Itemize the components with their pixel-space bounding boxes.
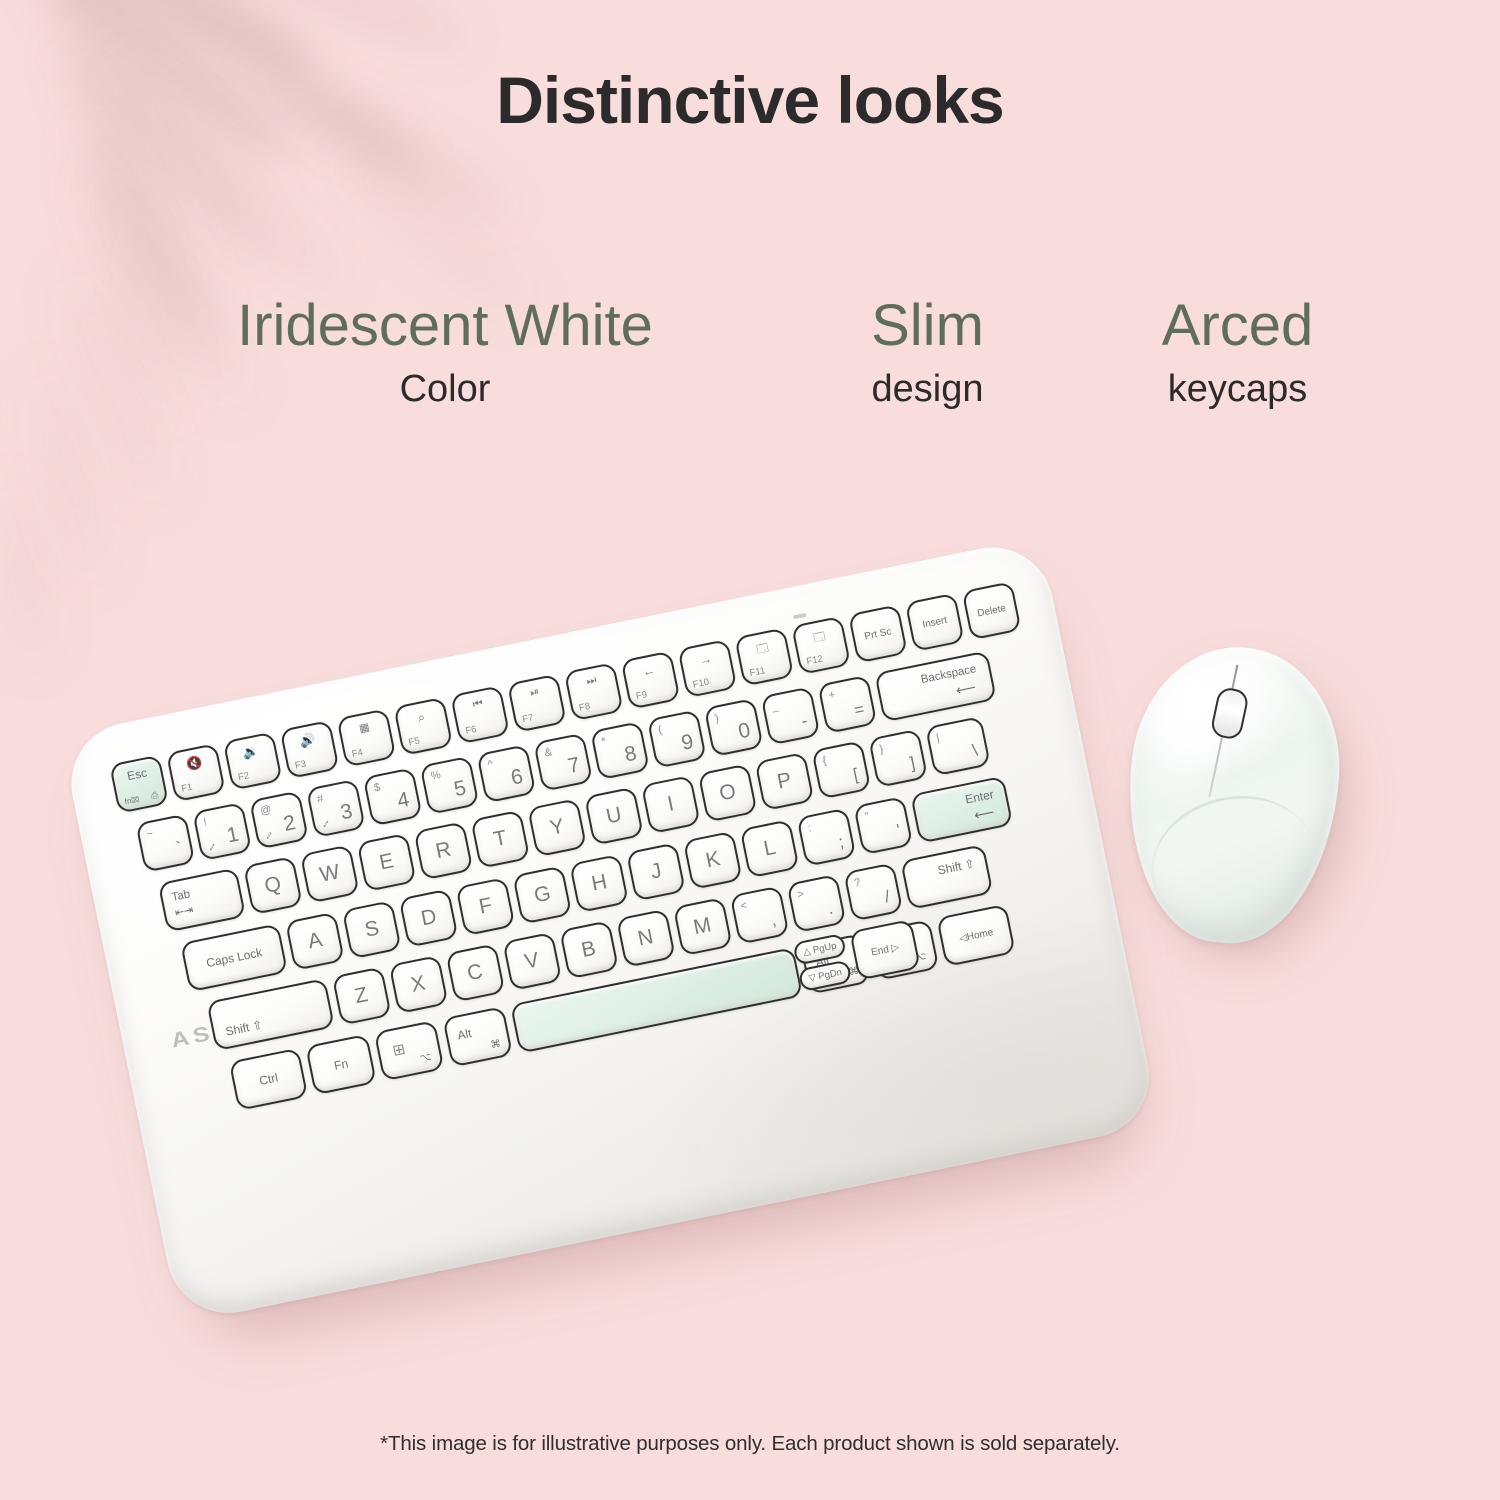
product-keyboard[interactable]: ASUS Escfn⌧⎙🔇F1🔉F2🔊F3▦F4⌕F5⏮F6⏯F7⏭F8←F9→…: [60, 535, 1193, 1442]
key-f3[interactable]: 🔊F3: [280, 720, 340, 779]
key-f[interactable]: F: [456, 877, 516, 936]
key-backspace[interactable]: Backspace⟵: [874, 651, 996, 723]
key-home[interactable]: ◁Home: [936, 904, 1016, 967]
feature-subtitle: design: [855, 370, 1000, 410]
key-5[interactable]: %5: [420, 756, 480, 815]
key-p[interactable]: P: [755, 752, 815, 811]
keyboard-keys[interactable]: Escfn⌧⎙🔇F1🔉F2🔊F3▦F4⌕F5⏮F6⏯F7⏭F8←F9→F10🗔F…: [60, 537, 1160, 1324]
key-enter[interactable]: Enter⟵: [910, 776, 1013, 844]
footnote: *This image is for illustrative purposes…: [0, 1432, 1500, 1456]
key-delete[interactable]: Delete: [962, 581, 1022, 640]
product-mouse[interactable]: [1114, 638, 1373, 977]
key-prt-sc[interactable]: Prt Sc: [848, 604, 908, 663]
key-backslash[interactable]: |\: [925, 716, 991, 776]
key-o[interactable]: O: [698, 763, 758, 822]
feature-title: Iridescent White: [170, 296, 720, 356]
key-shift-left[interactable]: Shift ⇧: [206, 978, 334, 1051]
key-period[interactable]: >.: [786, 874, 846, 933]
key-4[interactable]: $4: [363, 767, 423, 826]
key-shift-right[interactable]: Shift ⇧: [900, 844, 994, 910]
key-h[interactable]: H: [569, 854, 629, 913]
feature-subtitle: keycaps: [1140, 370, 1335, 410]
key-slash[interactable]: ?/: [843, 862, 903, 921]
feature-item-color: Iridescent White Color: [170, 296, 720, 410]
key-fn[interactable]: Fn: [305, 1034, 376, 1095]
key-equal[interactable]: +=: [817, 675, 877, 734]
key-esc[interactable]: Escfn⌧⎙: [109, 755, 169, 814]
key-tilde[interactable]: ~`: [135, 814, 195, 873]
marketing-image: Distinctive looks Iridescent White Color…: [0, 0, 1500, 1500]
key-f11[interactable]: 🗔F11: [734, 627, 794, 686]
key-tab[interactable]: Tab⇤⇥: [158, 868, 246, 933]
key-q[interactable]: Q: [243, 856, 303, 915]
key-3[interactable]: #3⑇: [306, 779, 366, 838]
key-8[interactable]: *8: [590, 721, 650, 780]
feature-item-design: Slim design: [855, 296, 1000, 410]
key-d[interactable]: D: [399, 889, 459, 948]
key-s[interactable]: S: [342, 900, 402, 959]
feature-title: Arced: [1140, 296, 1335, 356]
key-n[interactable]: N: [616, 909, 676, 968]
key-windows[interactable]: ⊞⌥: [374, 1020, 445, 1081]
key-f9[interactable]: ←F9: [621, 651, 681, 710]
key-g[interactable]: G: [513, 865, 573, 924]
key-bracket-right[interactable]: }]: [868, 729, 928, 788]
key-b[interactable]: B: [559, 920, 619, 979]
key-i[interactable]: I: [641, 775, 701, 834]
feature-subtitle: Color: [170, 370, 720, 410]
feature-list: Iridescent White Color Slim design Arced…: [0, 296, 1500, 456]
key-bracket-left[interactable]: {[: [811, 740, 871, 799]
key-quote[interactable]: "': [854, 796, 914, 855]
key-t[interactable]: T: [470, 810, 530, 869]
key-f7[interactable]: ⏯F7: [507, 674, 567, 733]
key-j[interactable]: J: [626, 842, 686, 901]
key-z[interactable]: Z: [331, 967, 391, 1026]
key-c[interactable]: C: [445, 943, 505, 1002]
key-f12[interactable]: 🗔F12: [791, 616, 851, 675]
key-y[interactable]: Y: [527, 798, 587, 857]
key-l[interactable]: L: [740, 819, 800, 878]
key-a[interactable]: A: [285, 912, 345, 971]
key-k[interactable]: K: [683, 831, 743, 890]
key-minus[interactable]: _-: [761, 686, 821, 745]
key-v[interactable]: V: [502, 932, 562, 991]
key-caps-lock[interactable]: Caps Lock: [180, 923, 288, 992]
key-e[interactable]: E: [357, 833, 417, 892]
key-u[interactable]: U: [584, 787, 644, 846]
key-alt-left[interactable]: Alt⌘: [442, 1006, 513, 1067]
key-x[interactable]: X: [388, 955, 448, 1014]
key-1[interactable]: !1⑇: [192, 802, 252, 861]
key-w[interactable]: W: [300, 844, 360, 903]
key-0[interactable]: )0: [704, 698, 764, 757]
key-9[interactable]: (9: [647, 709, 707, 768]
feature-title: Slim: [855, 296, 1000, 356]
key-f2[interactable]: 🔉F2: [223, 731, 283, 790]
key-ctrl[interactable]: Ctrl: [229, 1048, 309, 1111]
key-semicolon[interactable]: :;: [797, 808, 857, 867]
key-f6[interactable]: ⏮F6: [450, 685, 510, 744]
key-comma[interactable]: <,: [729, 886, 789, 945]
feature-item-keycaps: Arced keycaps: [1140, 296, 1335, 410]
key-insert[interactable]: Insert: [905, 593, 965, 652]
key-6[interactable]: ^6: [476, 744, 536, 803]
key-f8[interactable]: ⏭F8: [564, 662, 624, 721]
product-scene: ASUS Escfn⌧⎙🔇F1🔉F2🔊F3▦F4⌕F5⏮F6⏯F7⏭F8←F9→…: [0, 0, 1500, 1500]
key-f10[interactable]: →F10: [677, 639, 737, 698]
key-f4[interactable]: ▦F4: [336, 708, 396, 767]
key-f5[interactable]: ⌕F5: [393, 697, 453, 756]
key-7[interactable]: &7: [533, 733, 593, 792]
key-r[interactable]: R: [413, 821, 473, 880]
key-2[interactable]: @2⑇: [249, 790, 309, 849]
key-f1[interactable]: 🔇F1: [166, 743, 226, 802]
page-title: Distinctive looks: [0, 62, 1500, 138]
key-m[interactable]: M: [672, 897, 732, 956]
